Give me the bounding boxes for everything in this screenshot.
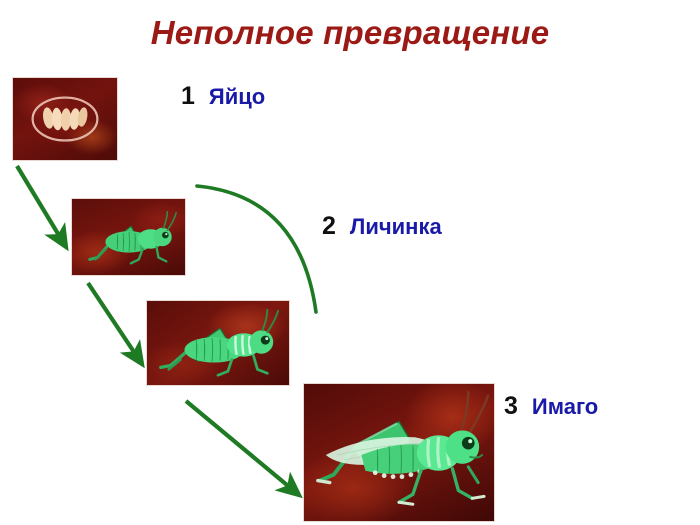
larva2-photo [146, 300, 290, 386]
step-text-3: Имаго [532, 394, 598, 420]
step-label-3: 3 Имаго [504, 392, 598, 421]
egg-cluster-illustration [13, 78, 117, 160]
arrow-larva2-to-imago [186, 401, 299, 495]
adult-grasshopper-illustration [304, 384, 494, 521]
page-title: Неполное превращение [0, 14, 700, 52]
step-label-1: 1 Яйцо [181, 82, 265, 111]
nymph-illustration [147, 301, 289, 385]
step-text-1: Яйцо [209, 84, 265, 110]
larva1-photo [71, 198, 186, 276]
nymph-illustration [72, 199, 185, 275]
step-number-3: 3 [504, 392, 518, 421]
curve-larva1-to-larva2 [197, 186, 316, 312]
step-number-1: 1 [181, 82, 195, 111]
arrow-larva1-to-larva2 [88, 283, 142, 364]
step-number-2: 2 [322, 212, 336, 241]
imago-photo [303, 383, 495, 522]
step-text-2: Личинка [350, 214, 442, 240]
diagram-canvas: Неполное превращение [0, 0, 700, 525]
egg-photo [12, 77, 118, 161]
step-label-2: 2 Личинка [322, 212, 442, 241]
arrow-egg-to-larva1 [17, 166, 66, 247]
